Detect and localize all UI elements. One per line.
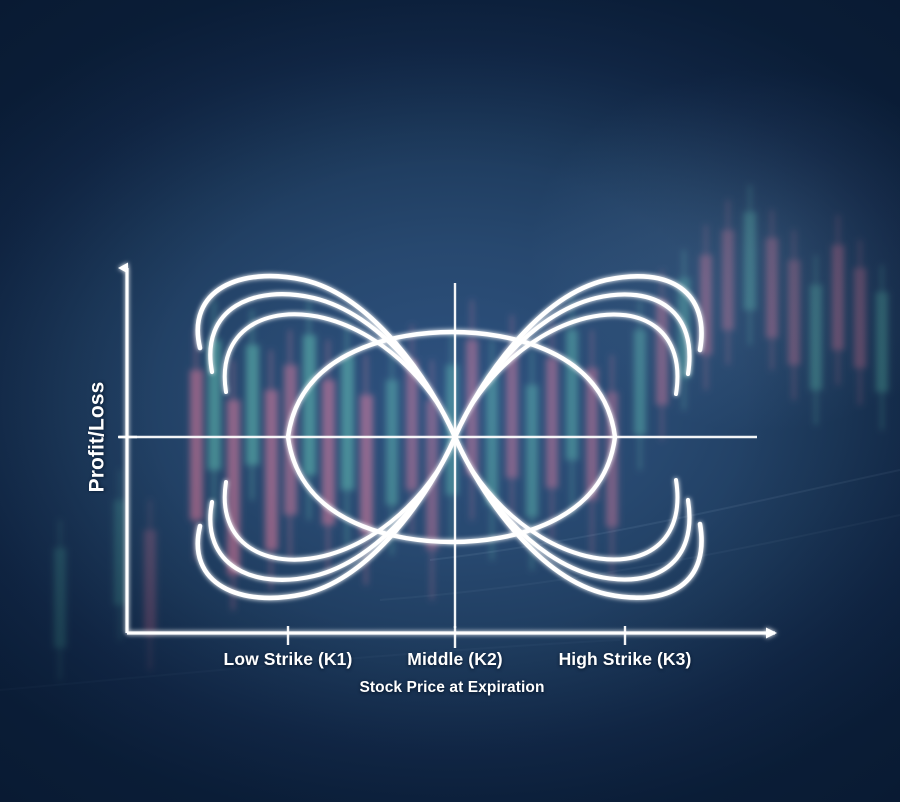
chart-canvas: Profit/Loss Low Strike (K1) Middle (K2) … <box>0 0 900 802</box>
curve-right-petal-upper-1 <box>455 276 702 437</box>
curve-inner-lens-lower <box>288 437 615 542</box>
tick-label-low-strike: Low Strike (K1) <box>224 649 353 670</box>
tick-label-high-strike: High Strike (K3) <box>559 649 692 670</box>
x-axis-label: Stock Price at Expiration <box>359 679 544 697</box>
tick-label-middle-strike: Middle (K2) <box>407 649 502 670</box>
curve-inner-lens-upper <box>288 332 615 437</box>
curve-right-petal-lower-1 <box>455 437 702 598</box>
y-axis-label: Profit/Loss <box>85 382 109 493</box>
